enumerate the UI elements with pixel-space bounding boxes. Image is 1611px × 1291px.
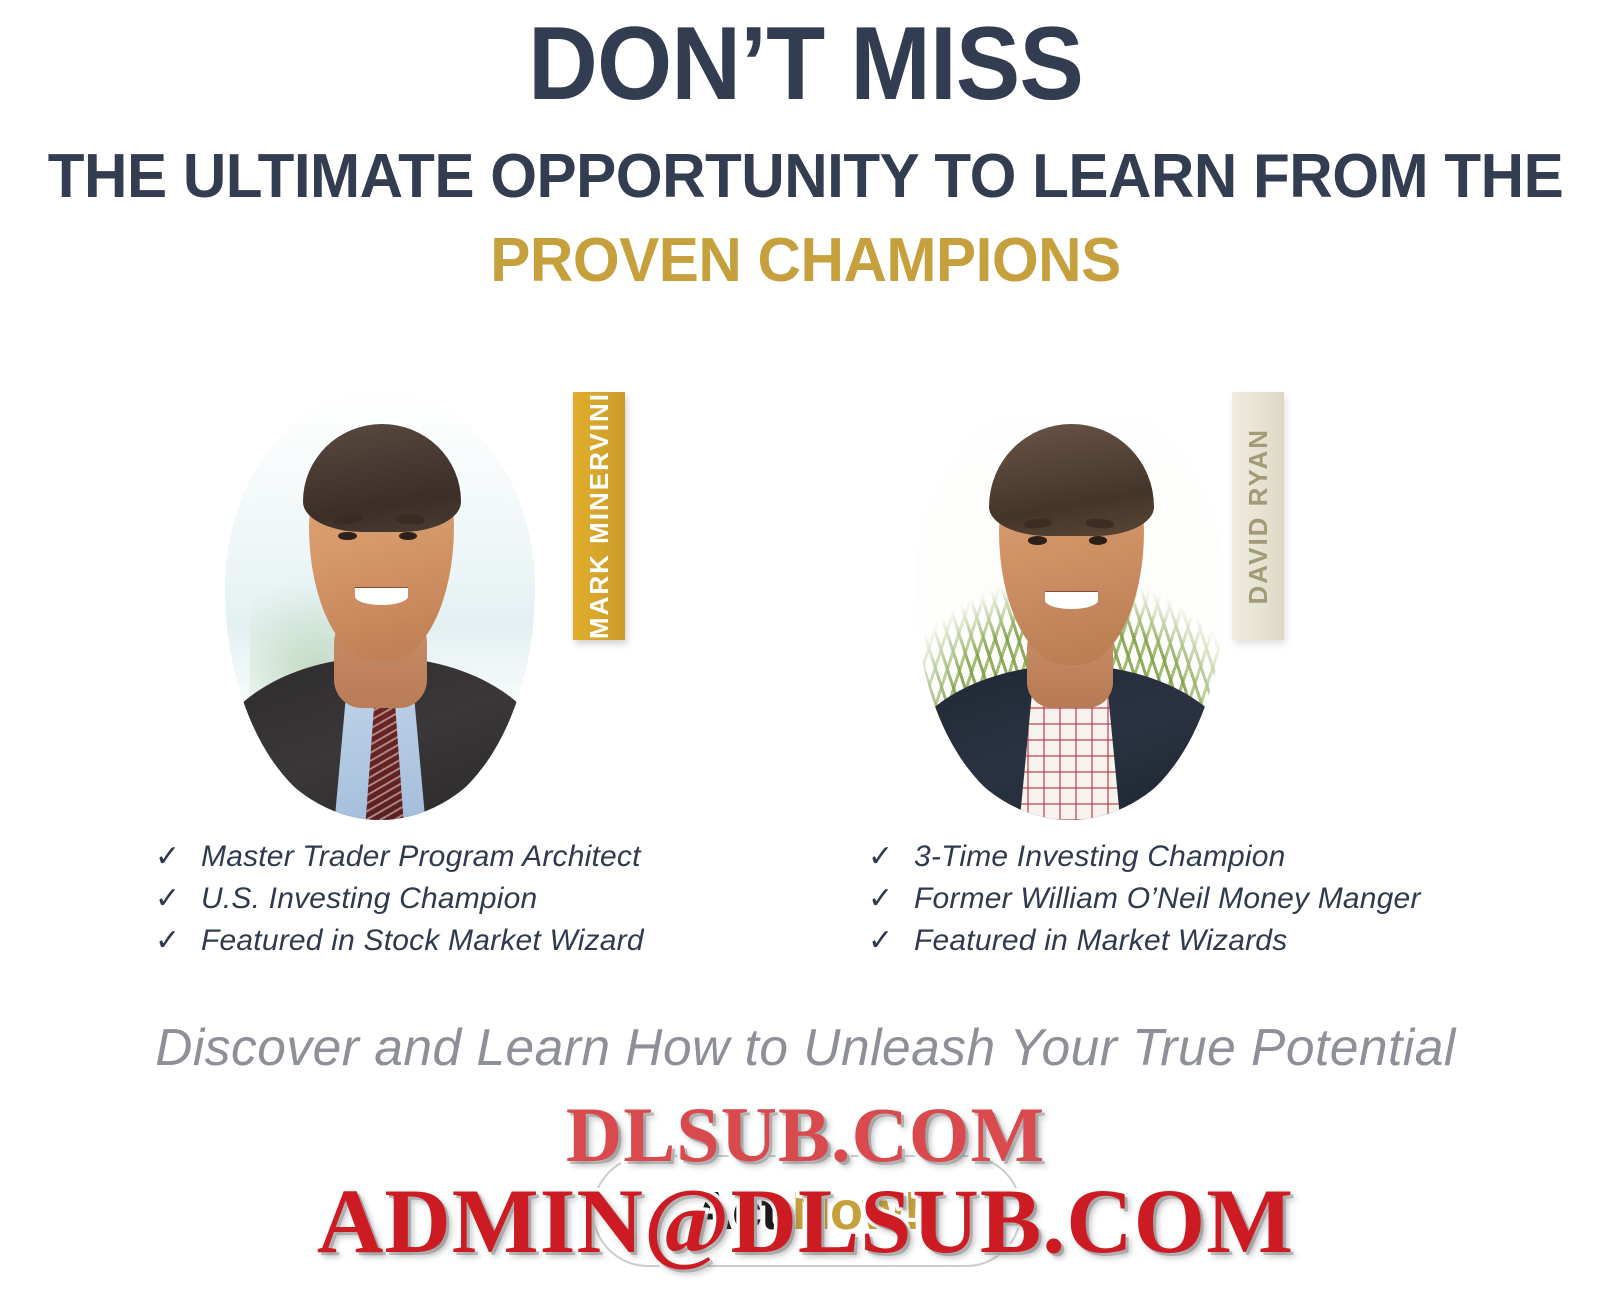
watermark-site: DLSUB.COM xyxy=(0,1090,1611,1180)
hair-shape xyxy=(989,424,1153,536)
check-icon: ✓ xyxy=(868,884,914,914)
list-item-label: U.S. Investing Champion xyxy=(201,882,537,916)
speaker-card-mark-minervini: MARK MINERVINI xyxy=(190,380,640,830)
hair-shape xyxy=(303,424,461,532)
portrait-photo xyxy=(225,390,535,820)
tagline: Discover and Learn How to Unleash Your T… xyxy=(8,1018,1603,1078)
list-item: ✓ Master Trader Program Architect xyxy=(155,840,644,882)
list-item: ✓ 3-Time Investing Champion xyxy=(868,840,1421,882)
list-item-label: Featured in Market Wizards xyxy=(914,924,1287,958)
check-icon: ✓ xyxy=(155,842,201,872)
list-item-label: 3-Time Investing Champion xyxy=(914,840,1286,874)
list-item: ✓ Former William O’Neil Money Manger xyxy=(868,882,1421,924)
speaker-name-banner-david-ryan: DAVID RYAN xyxy=(1232,392,1284,640)
list-item-label: Featured in Stock Market Wizard xyxy=(201,924,644,958)
speaker-name-label: DAVID RYAN xyxy=(1243,428,1274,605)
headline-block: DON’T MISS THE ULTIMATE OPPORTUNITY TO L… xyxy=(0,0,1611,292)
speakers-row: MARK MINERVINI xyxy=(0,380,1611,830)
portrait-image-david-ryan xyxy=(915,390,1225,820)
check-icon: ✓ xyxy=(155,926,201,956)
eye-left xyxy=(1028,536,1047,545)
speaker-credentials-row: ✓ Master Trader Program Architect ✓ U.S.… xyxy=(0,840,1611,980)
speaker-name-banner-mark-minervini: MARK MINERVINI xyxy=(573,392,625,640)
eye-right xyxy=(1089,536,1108,545)
speaker-name-label: MARK MINERVINI xyxy=(584,392,615,639)
list-item: ✓ U.S. Investing Champion xyxy=(155,882,644,924)
list-item-label: Former William O’Neil Money Manger xyxy=(914,882,1421,916)
watermark-email: ADMIN@DLSUB.COM xyxy=(0,1168,1611,1274)
speaker-portrait-mark-minervini xyxy=(225,390,535,820)
list-item: ✓ Featured in Market Wizards xyxy=(868,924,1421,966)
credentials-list-david-ryan: ✓ 3-Time Investing Champion ✓ Former Wil… xyxy=(868,840,1421,966)
list-item-label: Master Trader Program Architect xyxy=(201,840,641,874)
check-icon: ✓ xyxy=(868,926,914,956)
speaker-portrait-david-ryan xyxy=(915,390,1225,820)
headline-primary: DON’T MISS xyxy=(56,0,1554,116)
check-icon: ✓ xyxy=(155,884,201,914)
smile-shape xyxy=(355,588,408,605)
headline-secondary: THE ULTIMATE OPPORTUNITY TO LEARN FROM T… xyxy=(24,116,1587,208)
portrait-image-mark-minervini xyxy=(225,390,535,820)
portrait-photo xyxy=(915,390,1225,820)
speaker-card-david-ryan: DAVID RYAN xyxy=(880,380,1330,830)
check-icon: ✓ xyxy=(868,842,914,872)
headline-accent: PROVEN CHAMPIONS xyxy=(24,208,1587,292)
credentials-list-mark-minervini: ✓ Master Trader Program Architect ✓ U.S.… xyxy=(155,840,644,966)
list-item: ✓ Featured in Stock Market Wizard xyxy=(155,924,644,966)
